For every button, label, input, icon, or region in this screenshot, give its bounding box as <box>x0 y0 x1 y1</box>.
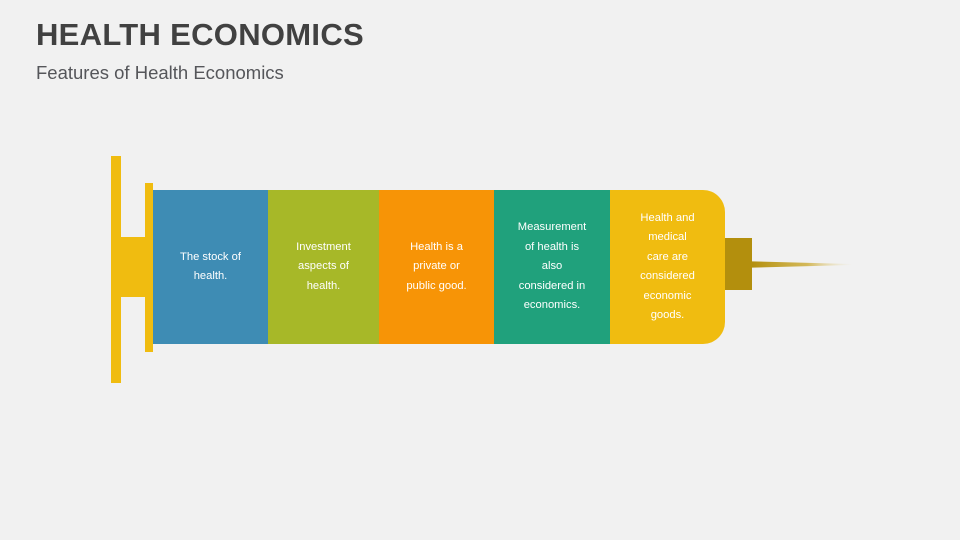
barrel-segment-1[interactable]: The stock of health. <box>153 190 268 344</box>
barrel-segment-2[interactable]: Investment aspects of health. <box>268 190 379 344</box>
syringe-barrel: The stock of health. Investment aspects … <box>153 190 725 344</box>
barrel-segment-3[interactable]: Health is a private or public good. <box>379 190 494 344</box>
needle-hub <box>725 238 752 290</box>
syringe-infographic: The stock of health. Investment aspects … <box>0 0 960 540</box>
needle-shaft-icon <box>752 260 852 269</box>
segment-label-4: Measurement of health is also considered… <box>518 218 586 316</box>
segment-label-2: Investment aspects of health. <box>296 238 351 297</box>
plunger-flange <box>145 183 153 352</box>
segment-label-3: Health is a private or public good. <box>406 238 466 297</box>
barrel-segment-4[interactable]: Measurement of health is also considered… <box>494 190 610 344</box>
segment-label-5: Health and medical care are considered e… <box>640 209 695 326</box>
segment-label-1: The stock of health. <box>180 248 241 287</box>
barrel-segment-5[interactable]: Health and medical care are considered e… <box>610 190 725 344</box>
